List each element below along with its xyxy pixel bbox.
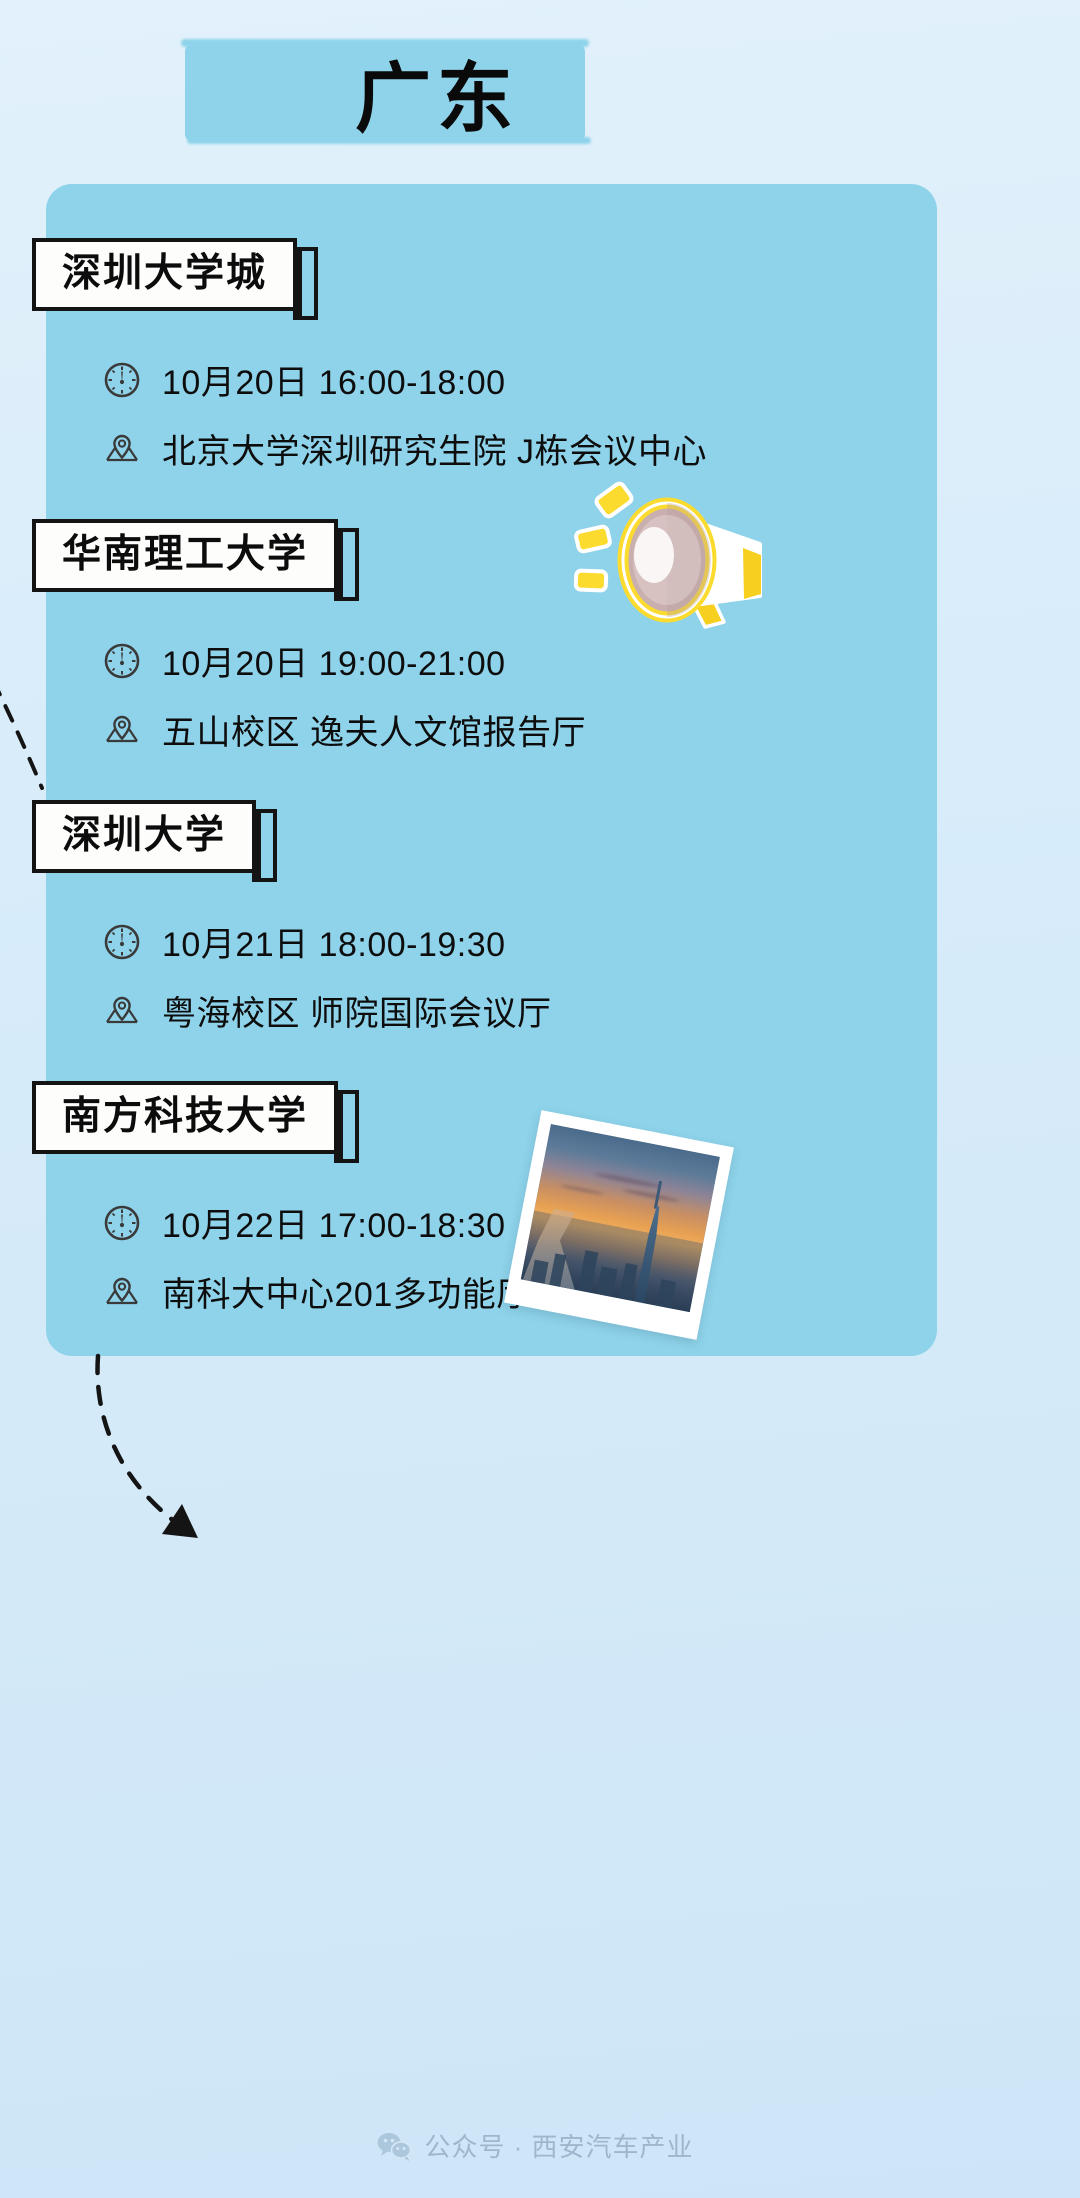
location-row: 五山校区 逸夫人文馆报告厅	[100, 705, 1080, 754]
page-title-banner: 广东	[185, 42, 585, 142]
location-row: 粤海校区 师院国际会议厅	[100, 986, 1080, 1035]
page-title: 广东	[355, 37, 519, 147]
footer: 公众号 · 西安汽车产业	[0, 2127, 1080, 2164]
school-tag-box: 深圳大学城	[32, 238, 297, 311]
location-text: 粤海校区 师院国际会议厅	[162, 986, 551, 1035]
dashed-arrow-icon	[0, 648, 62, 808]
dashed-arrow-icon	[80, 1352, 260, 1562]
school-name: 南方科技大学	[62, 1095, 308, 1138]
time-text: 10月21日 18:00-19:30	[162, 917, 506, 966]
map-pin-icon	[100, 427, 144, 471]
time-row: 10月21日 18:00-19:30	[100, 917, 1080, 966]
school-name: 深圳大学	[62, 814, 226, 857]
map-pin-icon	[100, 708, 144, 752]
school-name: 深圳大学城	[62, 252, 267, 295]
school-tag: 深圳大学	[32, 800, 256, 873]
schedule-entry: 深圳大学城 10月20日 16:00-18:00	[0, 238, 1080, 473]
location-text: 五山校区 逸夫人文馆报告厅	[162, 705, 586, 754]
clock-icon	[100, 639, 144, 683]
clock-icon	[100, 1201, 144, 1245]
wechat-icon	[376, 2131, 412, 2161]
school-tag-box: 深圳大学	[32, 800, 256, 873]
school-tag: 深圳大学城	[32, 238, 297, 311]
map-pin-icon	[100, 1270, 144, 1314]
time-text: 10月22日 17:00-18:30	[162, 1198, 506, 1247]
school-tag: 南方科技大学	[32, 1081, 338, 1154]
time-text: 10月20日 16:00-18:00	[162, 355, 506, 404]
school-name: 华南理工大学	[62, 533, 308, 576]
location-text: 南科大中心201多功能厅	[162, 1267, 531, 1316]
guangzhou-skyline-photo	[504, 1110, 734, 1340]
time-row: 10月20日 19:00-21:00	[100, 636, 1080, 685]
clock-icon	[100, 358, 144, 402]
clock-icon	[100, 920, 144, 964]
schedule-entry: 华南理工大学 10月20日 19:00-21:00	[0, 519, 1080, 754]
location-text: 北京大学深圳研究生院 J栋会议中心	[162, 424, 707, 473]
school-tag-box: 南方科技大学	[32, 1081, 338, 1154]
time-text: 10月20日 19:00-21:00	[162, 636, 506, 685]
location-row: 北京大学深圳研究生院 J栋会议中心	[100, 424, 1080, 473]
photo-image	[521, 1124, 720, 1312]
schedule-entry: 深圳大学 10月21日 18:00-19:30	[0, 800, 1080, 1035]
map-pin-icon	[100, 989, 144, 1033]
megaphone-icon	[572, 472, 777, 632]
time-row: 10月20日 16:00-18:00	[100, 355, 1080, 404]
school-tag-box: 华南理工大学	[32, 519, 338, 592]
footer-text: 公众号 · 西安汽车产业	[424, 2127, 693, 2164]
school-tag: 华南理工大学	[32, 519, 338, 592]
